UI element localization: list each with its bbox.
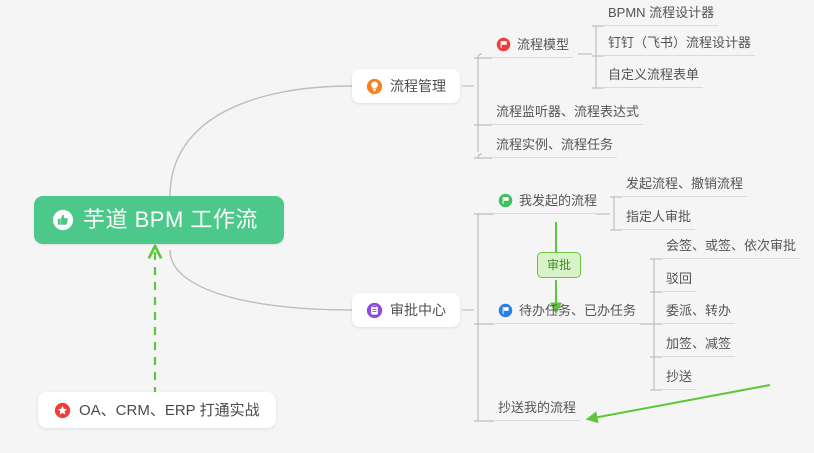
link-pm-bus-cap2 [478,154,482,158]
clipboard-icon [366,302,383,319]
node-label: 驳回 [666,272,692,285]
flag-icon [498,303,513,318]
leaf-carbon-copy[interactable]: 抄送 [662,364,696,390]
node-label: 加签、减签 [666,337,731,350]
branch-label: 流程管理 [390,79,446,93]
approval-badge[interactable]: 审批 [537,252,581,278]
leaf-add-remove-sign[interactable]: 加签、减签 [662,331,735,357]
leaf-bpmn-designer[interactable]: BPMN 流程设计器 [604,0,718,26]
root-node[interactable]: 芋道 BPM 工作流 [34,196,284,244]
node-label: 流程实例、流程任务 [496,138,613,151]
node-process-model[interactable]: 流程模型 [492,32,573,58]
node-label: 流程监听器、流程表达式 [496,105,639,118]
leaf-assignee-approval[interactable]: 指定人审批 [622,204,695,230]
leaf-process-listener[interactable]: 流程监听器、流程表达式 [492,99,643,125]
node-label: 我发起的流程 [519,194,597,207]
leaf-cc-to-me[interactable]: 抄送我的流程 [494,395,580,421]
leaf-custom-form[interactable]: 自定义流程表单 [604,62,703,88]
branch-node-approval-center[interactable]: 审批中心 [352,293,460,327]
branch-label: 审批中心 [390,303,446,317]
thumbs-up-icon [52,209,74,231]
node-label: 委派、转办 [666,304,731,317]
node-label: 发起流程、撤销流程 [626,177,743,190]
branch-node-process-management[interactable]: 流程管理 [352,69,460,103]
link-root-to-process-management [170,86,352,196]
leaf-countersign[interactable]: 会签、或签、依次审批 [662,233,800,259]
approval-badge-label: 审批 [547,259,571,271]
leaf-delegate-transfer[interactable]: 委派、转办 [662,298,735,324]
node-label: BPMN 流程设计器 [608,6,714,19]
root-label: 芋道 BPM 工作流 [83,209,258,231]
flag-icon [496,37,511,52]
leaf-reject[interactable]: 驳回 [662,266,696,292]
mindmap-canvas: 芋道 BPM 工作流 流程管理 流程模型 BPMN 流程设计器 钉钉（飞书）流程 [0,0,814,453]
node-label: 会签、或签、依次审批 [666,239,796,252]
star-icon [54,402,71,419]
arrow-cc-to-cc-mine [588,385,770,419]
node-todo-done-tasks[interactable]: 待办任务、已办任务 [494,298,640,324]
node-label: 抄送我的流程 [498,401,576,414]
callout-card-integration[interactable]: OA、CRM、ERP 打通实战 [38,392,276,428]
leaf-start-cancel-process[interactable]: 发起流程、撤销流程 [622,171,747,197]
flag-icon [498,193,513,208]
link-root-to-approval-center [170,250,352,310]
node-label: 钉钉（飞书）流程设计器 [608,36,751,49]
link-pm-bus-cap [478,54,482,58]
node-label: 抄送 [666,370,692,383]
leaf-process-instance[interactable]: 流程实例、流程任务 [492,132,617,158]
callout-label: OA、CRM、ERP 打通实战 [79,403,260,418]
lightbulb-icon [366,78,383,95]
node-label: 指定人审批 [626,210,691,223]
node-my-initiated[interactable]: 我发起的流程 [494,188,601,214]
node-label: 待办任务、已办任务 [519,304,636,317]
leaf-dingtalk-designer[interactable]: 钉钉（飞书）流程设计器 [604,30,755,56]
node-label: 流程模型 [517,38,569,51]
node-label: 自定义流程表单 [608,68,699,81]
